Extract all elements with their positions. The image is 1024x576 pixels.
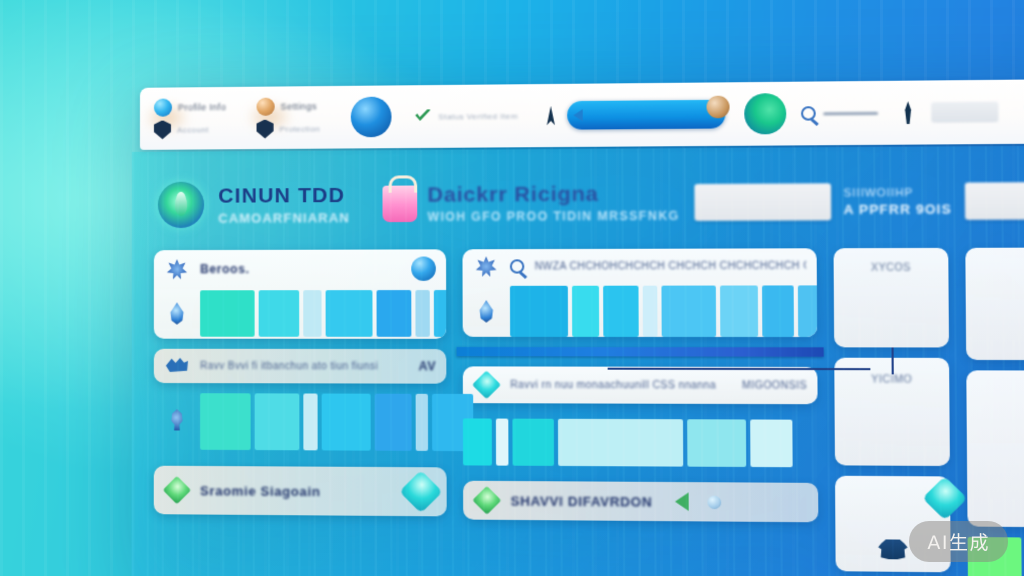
- toolbar-item-back-home[interactable]: [801, 106, 878, 121]
- header-label-bottom: A PPFRR 9OIS: [844, 201, 952, 217]
- bar-segment: [643, 286, 658, 337]
- middle-progress-divider: [457, 347, 824, 357]
- left-panel-header-row[interactable]: Beroos.: [154, 249, 446, 288]
- edge-card-bottom[interactable]: [966, 370, 1024, 527]
- bar-segment: [326, 290, 373, 337]
- diamond-green-icon: [164, 480, 190, 500]
- left-footer-label: Sraomie Siagoain: [200, 483, 395, 500]
- bar-segment: [416, 394, 428, 451]
- lamp-icon: [164, 409, 190, 433]
- middle-text-row-card[interactable]: Ravvi rn nuu monaachuunill CSS nnanna MI…: [463, 366, 818, 404]
- page-title: CINUN TDD: [218, 183, 350, 208]
- browser-toolbar: Profile Info Account Settings: [140, 79, 1024, 150]
- bar-segment: [720, 285, 758, 337]
- drop-icon: [164, 302, 190, 324]
- bar-segment: [603, 286, 639, 337]
- bar-segment: [434, 290, 446, 337]
- connector-line-vertical: [891, 347, 893, 374]
- check-leaf-icon: [414, 109, 431, 124]
- bar-group-left-1: [200, 290, 446, 337]
- bar-segment: [259, 290, 300, 337]
- header-right-group: SIIIWOIIHP A PPFRR 9OIS: [694, 182, 1024, 221]
- flower-icon-2: [473, 256, 500, 276]
- drop-icon-2: [473, 300, 500, 322]
- mini-card-yicimo[interactable]: YICIMO: [834, 358, 950, 466]
- toolbar-text-placeholder-line: [823, 111, 878, 115]
- leaf-circle-logo: [158, 182, 204, 228]
- page-subtitle: CAMOARFNIARAN: [218, 210, 350, 226]
- left-panel-column: Beroos.: [154, 249, 447, 576]
- bar-segment: [463, 418, 492, 465]
- mini-card-label: XYCOS: [871, 262, 911, 273]
- left-header-label: Beroos.: [200, 262, 401, 277]
- robot-icon: [877, 536, 909, 561]
- bar-segment: [200, 393, 251, 450]
- bar-segment: [798, 285, 817, 337]
- diamond-teal-icon[interactable]: [399, 470, 443, 513]
- diamond-green-icon-2: [473, 490, 500, 511]
- middle-panel-column: NWZA CHCHOHCHCHCH CHCHCH CHCHCHCHCH CHCH…: [462, 248, 818, 576]
- bar-segment: [572, 286, 599, 337]
- sphere-amber-icon: [256, 97, 274, 115]
- sphere-blue-icon[interactable]: [411, 256, 436, 280]
- left-text-row-card[interactable]: Ravv Bvvi fi itbanchun ato tiun fiunsi A…: [154, 349, 447, 384]
- left-row-label: Ravv Bvvi fi itbanchun ato tiun fiunsi: [200, 360, 408, 371]
- bar-segment: [377, 290, 412, 337]
- middle-footer-row-card[interactable]: SHAVVI DIFAVRDON: [463, 481, 818, 523]
- toolbar-item-sublabel-2: Protection: [280, 124, 321, 133]
- diamond-teal-icon-3: [922, 476, 967, 520]
- globe-blue-icon[interactable]: [351, 97, 392, 138]
- bar-segment: [512, 419, 554, 466]
- screenshot-canvas: Profile Info Account Settings: [0, 0, 1024, 576]
- bar-group-middle-1: [510, 285, 817, 337]
- ai-generated-watermark: AI生成: [909, 521, 1008, 562]
- bar-segment: [322, 394, 371, 451]
- bar-segment: [375, 394, 412, 451]
- mini-card-xycos[interactable]: XYCOS: [834, 248, 949, 348]
- middle-bar-row-1: [463, 283, 818, 337]
- brand-block-secondary: Daickrr Ricigna WIOH GFO PROO TIDIN MRSS…: [382, 182, 679, 224]
- bar-segment: [661, 286, 716, 337]
- app-window-body: CINUN TDD CAMOARFNIARAN Daickrr Ricigna …: [132, 146, 1024, 576]
- left-row-trailing: AV: [419, 359, 436, 373]
- bar-segment: [762, 285, 794, 337]
- left-bar-row-1: [154, 288, 446, 339]
- bar-segment: [303, 393, 317, 450]
- toolbar-item-sublabel: Account: [177, 125, 209, 134]
- panel-columns: Beroos.: [154, 247, 1024, 576]
- search-icon-2[interactable]: [510, 259, 524, 273]
- tiny-circle-icon[interactable]: [708, 495, 722, 509]
- bar-segment: [558, 419, 683, 467]
- secondary-title: Daickrr Ricigna: [427, 182, 679, 208]
- header-input-field-2[interactable]: [964, 182, 1024, 220]
- bar-segment: [200, 290, 255, 336]
- left-bar-row-2: [154, 393, 447, 451]
- toolbar-item-settings[interactable]: Settings Protection: [256, 97, 320, 139]
- globe-green-icon[interactable]: [744, 93, 786, 134]
- flower-icon: [164, 259, 190, 279]
- pill-knob-handle[interactable]: [707, 96, 730, 119]
- bar-segment: [750, 419, 792, 467]
- toolbar-pill-button[interactable]: [567, 100, 725, 130]
- bar-segment: [687, 419, 746, 467]
- toolbar-item-verified[interactable]: Status Verified Item: [414, 108, 518, 124]
- bar-segment: [510, 286, 568, 337]
- app-header: CINUN TDD CAMOARFNIARAN Daickrr Ricigna …: [158, 164, 1024, 240]
- shopping-bag-icon: [382, 185, 417, 222]
- left-footer-row-card[interactable]: Sraomie Siagoain: [154, 466, 447, 517]
- toolbar-item-profile[interactable]: Profile Info Account: [154, 98, 226, 140]
- cursor-icon[interactable]: [547, 106, 555, 125]
- app-window: Profile Info Account Settings: [118, 71, 1024, 576]
- bar-segment: [255, 393, 300, 450]
- mini-card-label-2: YICIMO: [871, 374, 912, 385]
- hand-icon: [164, 357, 190, 375]
- secondary-subtitle: WIOH GFO PROO TIDIN MRSSFNKG: [428, 209, 680, 224]
- bar-group-left-2: [200, 393, 473, 451]
- left-panel-card: Beroos.: [154, 249, 446, 339]
- bar-group-middle-2: [463, 413, 818, 472]
- bar-segment: [496, 419, 509, 466]
- middle-panel-header-row[interactable]: NWZA CHCHOHCHCHCH CHCHCH CHCHCHCHCH CHCH…: [462, 248, 816, 284]
- search-icon: [801, 106, 816, 121]
- toolbar-item-label: Profile Info: [178, 102, 226, 112]
- bar-segment: [415, 290, 429, 337]
- header-input-field[interactable]: [694, 183, 831, 221]
- edge-card-top[interactable]: [965, 247, 1024, 360]
- toolbar-item-label-2: Settings: [281, 101, 317, 111]
- diamond-teal-icon-2: [473, 375, 500, 395]
- toolbar-verified-label: Status Verified Item: [438, 111, 518, 121]
- brand-block: CINUN TDD CAMOARFNIARAN: [218, 183, 350, 225]
- triangle-green-icon[interactable]: [675, 492, 689, 511]
- toolbar-address-field[interactable]: [932, 102, 999, 123]
- middle-footer-label: SHAVVI DIFAVRDON: [511, 493, 653, 509]
- middle-row-label: Ravvi rn nuu monaachuunill CSS nnanna: [510, 379, 732, 391]
- bar-segment: [303, 290, 321, 337]
- sphere-icon: [154, 98, 172, 116]
- header-label-group: SIIIWOIIHP A PPFRR 9OIS: [843, 186, 951, 216]
- header-label-top: SIIIWOIIHP: [843, 186, 951, 199]
- middle-panel-card: NWZA CHCHOHCHCHCH CHCHCH CHCHCHCHCH CHCH…: [462, 248, 817, 337]
- middle-header-label: NWZA CHCHOHCHCHCH CHCHCH CHCHCHCHCH CHCH…: [535, 260, 807, 272]
- middle-row-trailing: MIGOONSIS: [742, 380, 807, 392]
- balloon-icon[interactable]: [904, 101, 913, 124]
